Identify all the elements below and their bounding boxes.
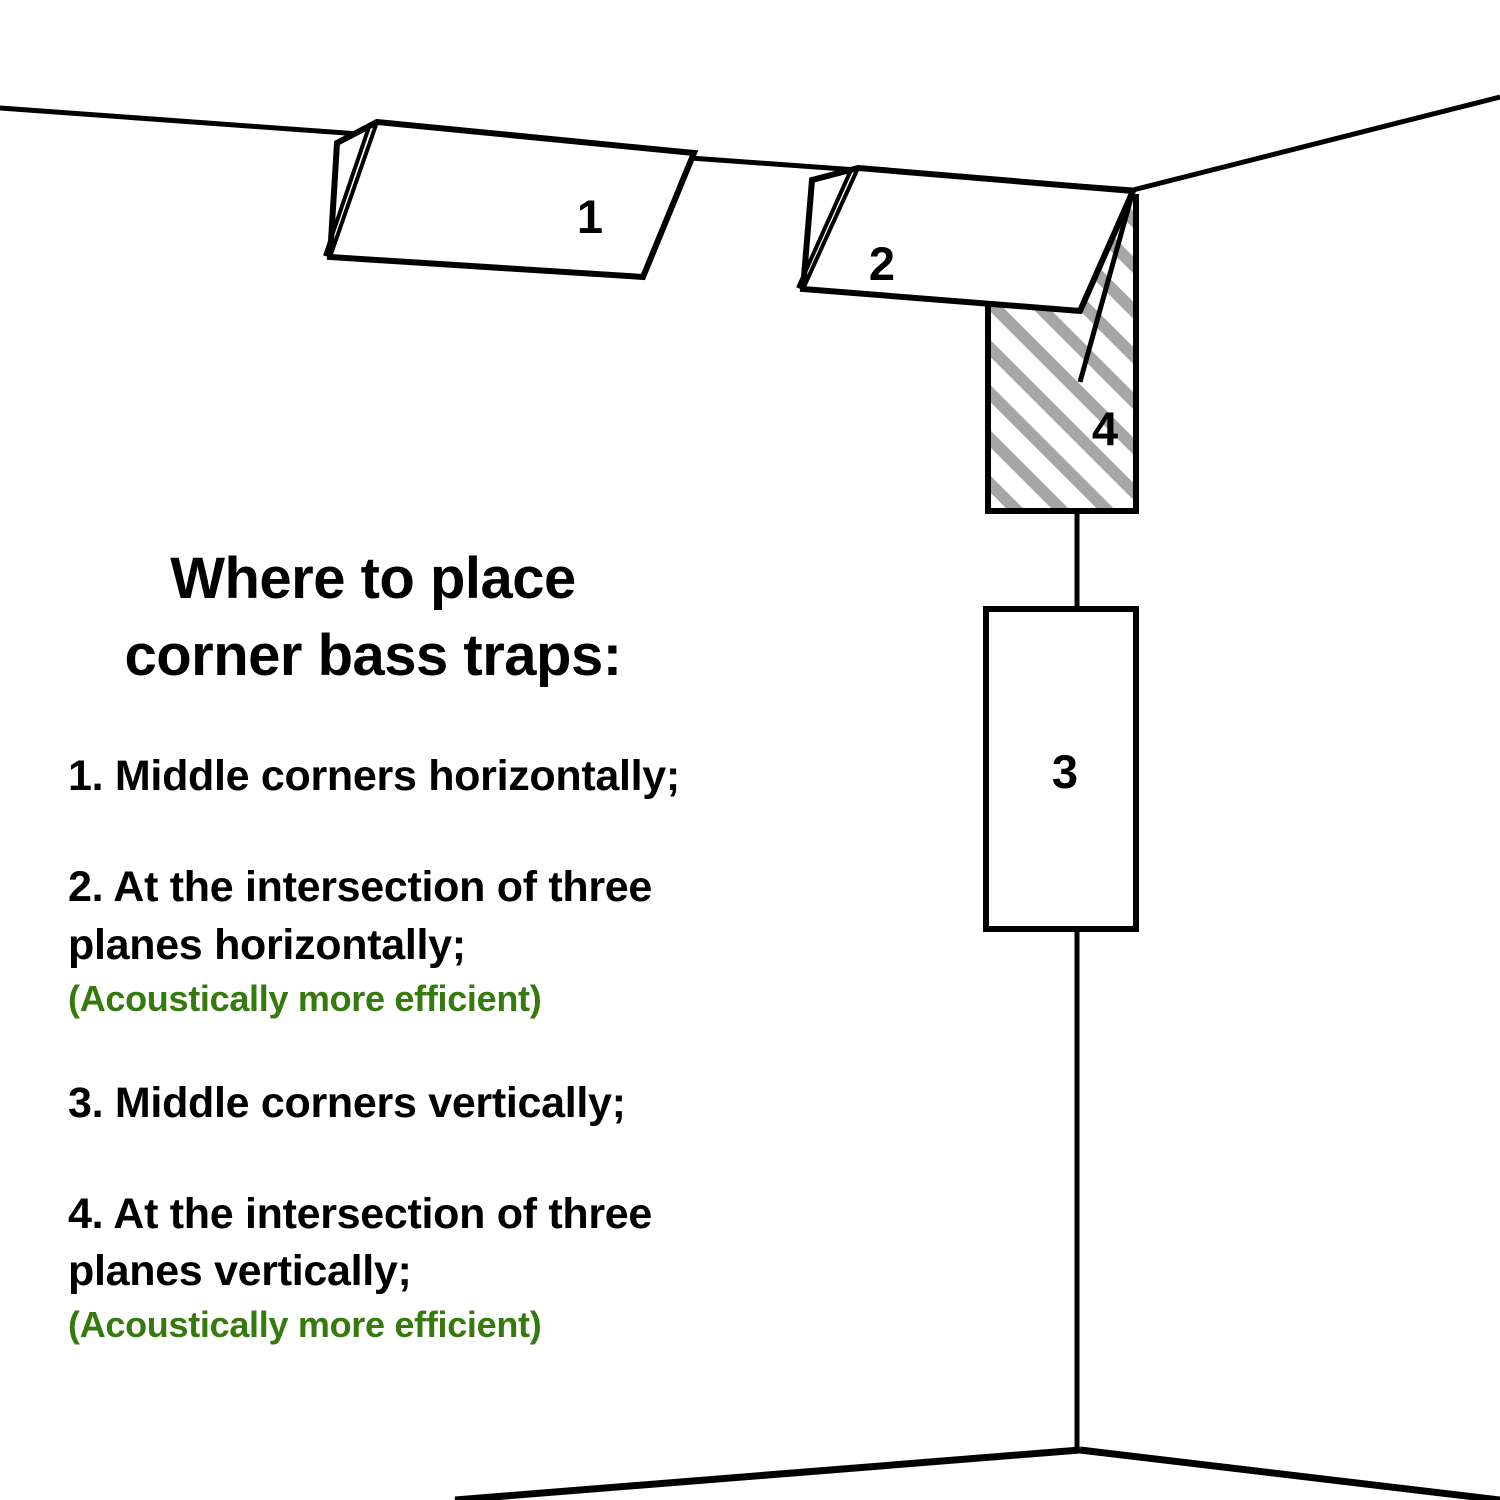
legend-item-2-note: (Acoustically more efficient): [68, 976, 768, 1021]
legend-title: Where to place corner bass traps:: [68, 540, 768, 694]
trap-3-label: 3: [1052, 745, 1078, 798]
floor-line-left: [455, 1450, 1080, 1500]
legend-item-1-main: 1. Middle corners horizontally;: [68, 748, 768, 805]
legend-title-line-1: Where to place: [68, 540, 678, 617]
trap-2-label: 2: [869, 237, 895, 290]
floor-line-right: [1080, 1450, 1500, 1500]
legend-item-3-main: 3. Middle corners vertically;: [68, 1075, 768, 1132]
legend-item-1: 1. Middle corners horizontally;: [68, 748, 768, 805]
legend-item-3: 3. Middle corners vertically;: [68, 1075, 768, 1132]
bass-trap-3[interactable]: 3: [986, 609, 1136, 929]
trap-1-label: 1: [577, 190, 603, 243]
legend-item-4-main: 4. At the intersection of three planes v…: [68, 1186, 768, 1300]
trap-2-body[interactable]: [803, 168, 1133, 311]
legend-item-4-note: (Acoustically more efficient): [68, 1302, 768, 1347]
trap-1-body[interactable]: [330, 122, 694, 277]
diagram-page: 4 3 1 2 Where to place corner bass traps…: [0, 0, 1500, 1500]
bass-trap-2[interactable]: 2: [798, 168, 1133, 311]
legend-item-2: 2. At the intersection of three planes h…: [68, 859, 768, 1020]
legend-item-2-main: 2. At the intersection of three planes h…: [68, 859, 768, 973]
legend-list: 1. Middle corners horizontally; 2. At th…: [68, 748, 768, 1347]
ceiling-line-right: [1133, 97, 1500, 190]
legend-panel: Where to place corner bass traps: 1. Mid…: [68, 540, 768, 1347]
legend-item-4: 4. At the intersection of three planes v…: [68, 1186, 768, 1347]
trap-4-label: 4: [1092, 402, 1118, 455]
legend-title-line-2: corner bass traps:: [68, 617, 678, 694]
bass-trap-1[interactable]: 1: [325, 122, 694, 277]
